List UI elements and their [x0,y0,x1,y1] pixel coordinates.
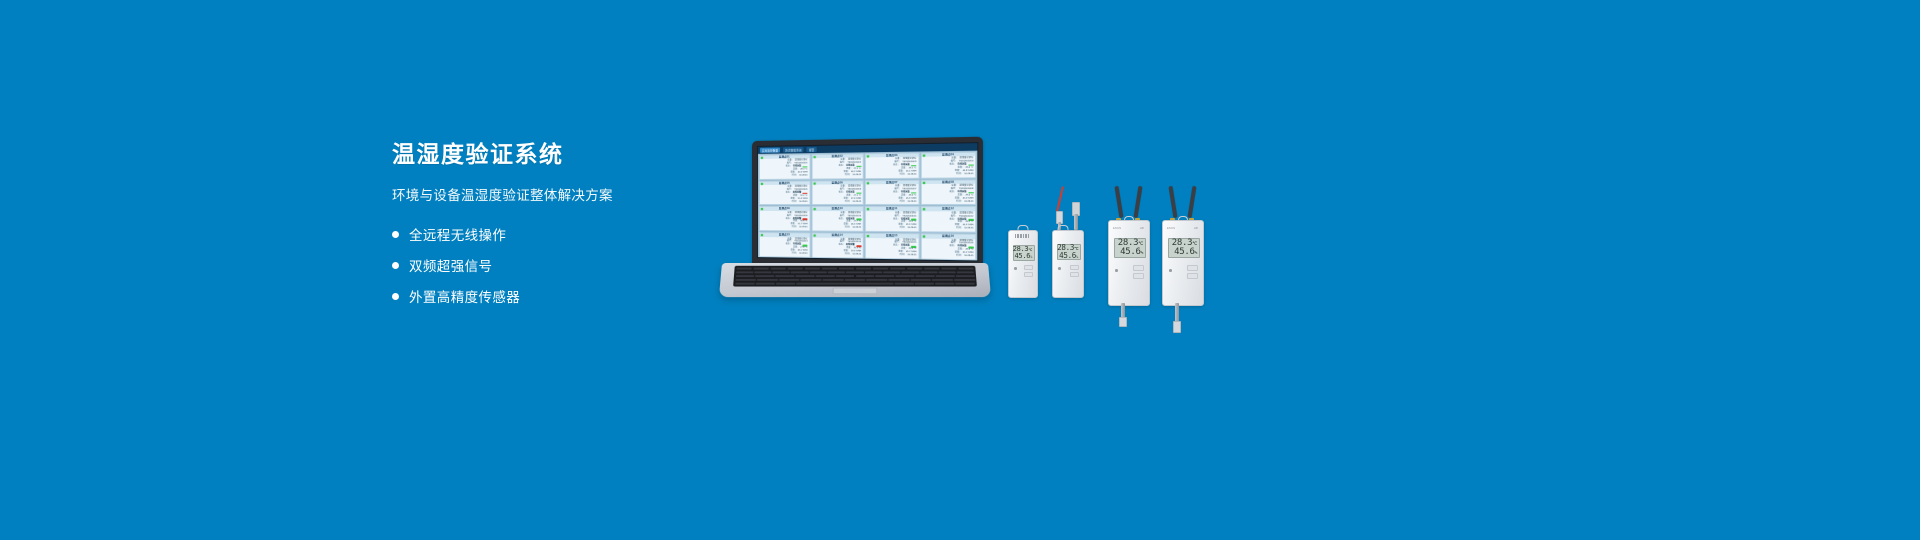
keyboard-key[interactable] [795,275,814,278]
keyboard-key[interactable] [956,282,976,285]
button-pad [1024,265,1033,277]
monitoring-card[interactable]: 监测点14设备：温湿度记录仪编号：TS202001014状态：超限报警温度：31… [811,233,864,259]
card-title: 监测点10 [812,208,863,211]
keyboard-key[interactable] [935,282,954,285]
row-key: 时间： [845,253,852,256]
status-led-icon [813,235,815,237]
device-button-up[interactable] [1187,265,1198,271]
monitoring-card[interactable]: 监测点15设备：温湿度记录仪编号：TS202001015状态：在线采集温度：28… [865,233,919,259]
keyboard-key[interactable] [846,271,863,274]
keyboard-key[interactable] [856,275,875,278]
humidity-unit: % [1141,251,1143,256]
keyboard-key[interactable] [915,282,934,285]
button-pad [1187,265,1198,279]
row-key: 时间： [845,227,852,230]
card-row: 时间：10:28:45 [761,174,807,177]
sensor-filter-cap [1119,317,1127,327]
status-led-icon [1058,267,1061,270]
card-row: 时间：10:28:45 [867,254,916,258]
feature-label: 全远程无线操作 [409,224,506,244]
keyboard-row [736,267,974,270]
keyboard-key[interactable] [735,279,756,282]
card-row: 时间：10:28:45 [923,173,973,176]
device-brand-label: ENON [1167,227,1175,230]
keyboard-key[interactable] [957,271,974,274]
device-button-down[interactable] [1133,273,1144,279]
pager-page-2[interactable]: 2 [865,261,874,262]
monitoring-card[interactable]: 监测点11设备：温湿度记录仪编号：TS202001011状态：在线采集温度：28… [865,207,919,233]
keyboard-key[interactable] [821,267,837,270]
monitoring-card[interactable]: 监测点16设备：温湿度记录仪编号：TS202001016状态：在线采集温度：28… [920,234,976,261]
card-title: 监测点12 [921,208,975,212]
keyboard-key[interactable] [956,275,975,278]
humidity-value: 45.6 [1015,252,1031,260]
device-button-down[interactable] [1187,273,1198,279]
sensor-probe-rod [1175,303,1179,323]
lcd-display: 28.3℃ 45.6% [1013,245,1035,261]
keyboard-key[interactable] [770,267,786,270]
card-title: 监测点14 [812,234,863,238]
laptop-screen: 实时监控数据历史数据查询报警 监测点01设备：温湿度记录仪编号：TS202001… [757,142,978,261]
row-value: 10:28:45 [853,227,862,230]
tab-2[interactable]: 报警 [807,147,817,152]
monitoring-card[interactable]: 监测点09设备：温湿度记录仪编号：TS202001009状态：超限报警温度：30… [759,206,810,231]
lcd-display: 28.3℃ 45.6% [1168,238,1200,258]
keyboard-row [735,279,975,282]
status-led-icon [922,236,924,238]
row-value: 10:28:45 [853,253,862,256]
keyboard-key[interactable] [754,271,771,274]
keyboard-key[interactable] [941,267,957,270]
keyboard-key[interactable] [787,267,803,270]
status-led-icon [867,235,869,237]
feature-label: 双频超强信号 [409,255,492,275]
keyboard-key[interactable] [883,271,900,274]
row-value: 10:28:45 [964,255,973,258]
card-title: 监测点08 [921,180,975,184]
hero-banner: 温湿度验证系统 环境与设备温湿度验证整体解决方案 全远程无线操作 双频超强信号 … [0,0,1920,540]
card-row: 时间：10:28:45 [923,200,973,203]
row-key: 时间： [845,200,852,203]
data-logger-c: ENON HB 28.3℃ 45.6% [1108,220,1150,306]
keyboard-key[interactable] [735,275,754,278]
row-value: 10:28:45 [853,200,862,203]
data-logger-b: 28.3℃ 45.6% [1052,230,1084,298]
card-title: 监测点15 [866,234,918,238]
device-button-down[interactable] [1024,272,1033,277]
tab-1[interactable]: 历史数据查询 [783,147,804,152]
keyboard-key[interactable] [907,267,923,270]
row-key: 时间： [792,201,798,204]
bullet-dot-icon [392,231,399,238]
keyboard-key[interactable] [775,275,794,278]
keyboard-key[interactable] [809,271,826,274]
row-key: 时间： [792,253,798,256]
device-button-down[interactable] [1070,272,1079,277]
keyboard-key[interactable] [873,267,889,270]
keyboard-key[interactable] [828,271,845,274]
card-title: 监测点16 [921,235,975,239]
list-item: 双频超强信号 [392,255,722,275]
keyboard-key[interactable] [876,275,895,278]
monitoring-card[interactable]: 监测点02设备：温湿度记录仪编号：TS202001002状态：在线采集温度：27… [811,153,864,179]
button-pad [1133,265,1144,279]
row-value: 10:28:45 [799,253,807,256]
card-title: 监测点13 [760,233,809,237]
antenna-right-icon [1188,186,1197,218]
keyboard-key[interactable] [888,279,909,282]
data-logger-d: ENON HB 28.3℃ 45.6% [1162,220,1204,306]
card-title: 监测点11 [866,208,918,211]
monitoring-card[interactable]: 监测点05设备：温湿度记录仪编号：TS202001005状态：超限报警温度：31… [759,180,810,205]
card-row: 时间：10:28:45 [814,227,861,230]
row-key: 时间： [900,200,907,203]
row-value: 10:28:45 [964,228,973,231]
keyboard-key[interactable] [839,267,855,270]
keyboard-key[interactable] [836,275,855,278]
keyboard-key[interactable] [938,271,955,274]
banner-subtitle: 环境与设备温湿度验证整体解决方案 [392,184,722,204]
laptop-product-image: 实时监控数据历史数据查询报警 监测点01设备：温湿度记录仪编号：TS202001… [722,141,988,299]
lcd-display: 28.3℃ 45.6% [1114,238,1146,258]
status-led-icon [813,182,815,184]
card-row: 时间：10:28:45 [867,227,916,230]
monitoring-card[interactable]: 监测点04设备：温湿度记录仪编号：TS202001004状态：在线采集温度：28… [920,152,976,179]
card-row: 时间：10:28:45 [761,226,807,229]
humidity-value: 45.6 [1120,247,1140,257]
row-value: 10:28:45 [908,254,917,257]
keyboard-key[interactable] [894,282,913,285]
monitoring-card[interactable]: 监测点12设备：温湿度记录仪编号：TS202001012状态：在线采集温度：28… [920,207,976,233]
row-key: 时间： [956,200,963,203]
keyboard-key[interactable] [796,282,893,285]
keyboard-key[interactable] [755,275,774,278]
row-value: 10:28:45 [908,173,917,176]
vent-grille-icon [1015,234,1029,238]
humidity-unit: % [1076,255,1078,259]
card-row: 时间：10:28:45 [761,200,807,203]
status-led-icon [922,182,924,184]
row-key: 时间： [956,228,963,231]
laptop-brand-label: HUAWEI [845,288,864,292]
bullet-dot-icon [392,262,399,269]
monitoring-card[interactable]: 监测点13设备：温湿度记录仪编号：TS202001013状态：在线采集温度：27… [759,232,810,258]
pager-prev-button[interactable]: 上一页 [837,260,852,262]
banner-copy: 温湿度验证系统 环境与设备温湿度验证整体解决方案 全远程无线操作 双频超强信号 … [392,142,722,317]
data-logger-group: 28.3℃ 45.6% [1000,180,1260,310]
keyboard-key[interactable] [736,267,752,270]
row-value: 10:28:45 [908,200,917,203]
data-logger-a: 28.3℃ 45.6% [1008,230,1038,298]
keyboard-key[interactable] [902,271,919,274]
keyboard-key[interactable] [753,267,769,270]
antenna-left-icon [1115,186,1124,218]
keyboard-key[interactable] [958,267,974,270]
keyboard-key[interactable] [801,279,822,282]
keyboard [733,266,977,287]
keyboard-key[interactable] [735,282,755,285]
status-led-icon [761,183,763,185]
keyboard-key[interactable] [773,271,790,274]
monitoring-card[interactable]: 监测点08设备：温湿度记录仪编号：TS202001008状态：在线采集温度：28… [920,179,976,205]
keyboard-row [735,282,976,285]
card-row: 时间：10:28:45 [761,252,807,256]
probe-wire [1056,186,1063,212]
monitoring-card[interactable]: 监测点01设备：温湿度记录仪编号：TS202001001状态：在线采集温度：28… [759,154,810,180]
row-value: 10:28:45 [853,174,862,177]
keyboard-key[interactable] [924,267,940,270]
keyboard-key[interactable] [865,271,882,274]
card-row: 时间：10:28:45 [867,173,916,176]
card-row: 时间：10:28:45 [814,253,861,257]
keyboard-key[interactable] [936,275,955,278]
monitoring-card[interactable]: 监测点10设备：温湿度记录仪编号：TS202001010状态：在线采集温度：27… [811,206,864,232]
row-key: 时间： [845,174,852,177]
monitoring-card[interactable]: 监测点06设备：温湿度记录仪编号：TS202001006状态：在线采集温度：27… [811,180,864,206]
humidity-value: 45.6 [1059,251,1076,260]
list-item: 外置高精度传感器 [392,286,722,306]
row-value: 10:28:45 [908,227,917,230]
row-key: 时间： [792,227,798,230]
row-key: 时间： [900,227,907,230]
keyboard-key[interactable] [896,275,915,278]
monitoring-card-grid: 监测点01设备：温湿度记录仪编号：TS202001001状态：在线采集温度：28… [758,151,977,262]
bullet-dot-icon [392,293,399,300]
humidity-unit: % [1195,251,1197,256]
status-led-icon [1014,267,1017,270]
row-key: 时间： [792,174,798,177]
keyboard-key[interactable] [757,279,778,282]
lcd-display: 28.3℃ 45.6% [1057,244,1081,260]
keyboard-key[interactable] [856,267,872,270]
row-value: 10:28:45 [964,173,973,176]
humidity-unit: % [1030,255,1032,259]
status-led-icon [1115,269,1118,272]
keyboard-key[interactable] [736,271,753,274]
status-led-icon [867,155,869,157]
keyboard-key[interactable] [932,279,953,282]
pager-next-button[interactable]: 下一页 [876,261,892,262]
keyboard-key[interactable] [890,267,906,270]
laptop-base: HUAWEI [719,263,991,297]
device-brand-label: ENON [1113,227,1121,230]
device-button-up[interactable] [1133,265,1144,271]
laptop-lid: 实时监控数据历史数据查询报警 监测点01设备：温湿度记录仪编号：TS202001… [752,137,983,274]
keyboard-row [736,271,975,274]
keyboard-key[interactable] [910,279,931,282]
device-model-label: HB [1140,227,1144,230]
card-title: 监测点09 [760,207,809,210]
export-button[interactable]: 数据导出 [760,260,775,262]
card-row: 时间：10:28:45 [923,254,973,258]
antenna-left-icon [1169,186,1178,218]
card-row: 时间：10:28:45 [814,174,861,177]
button-pad [1070,265,1079,277]
status-led-icon [1169,269,1172,272]
tab-0[interactable]: 实时监控数据 [760,148,780,153]
card-row: 时间：10:28:45 [814,200,861,203]
status-led-icon [922,155,924,157]
list-item: 全远程无线操作 [392,224,722,244]
row-key: 时间： [956,173,963,176]
row-value: 10:28:45 [799,174,807,177]
keyboard-key[interactable] [920,271,937,274]
keyboard-key[interactable] [755,282,774,285]
device-model-label: HB [1194,227,1198,230]
card-title: 监测点05 [760,181,809,185]
status-led-icon [813,156,815,158]
keyboard-key[interactable] [804,267,820,270]
keyboard-key[interactable] [779,279,800,282]
keyboard-row [735,275,974,278]
keyboard-key[interactable] [916,275,935,278]
sensor-filter-cap [1173,321,1181,333]
status-led-icon [761,157,763,159]
antenna-right-icon [1134,186,1143,218]
row-key: 时间： [900,173,907,176]
monitoring-card[interactable]: 监测点07设备：温湿度记录仪编号：TS202001007状态：在线采集温度：28… [865,180,919,206]
keyboard-key[interactable] [776,282,795,285]
card-row: 时间：10:28:45 [867,200,916,203]
status-led-icon [867,182,869,184]
pager-page-1[interactable]: 1 [854,261,863,262]
feature-list: 全远程无线操作 双频超强信号 外置高精度传感器 [392,224,722,306]
monitoring-card[interactable]: 监测点03设备：温湿度记录仪编号：TS202001003状态：在线采集温度：28… [865,153,919,179]
row-value: 10:28:45 [964,200,973,203]
card-title: 监测点06 [812,181,863,185]
feature-label: 外置高精度传感器 [409,286,520,306]
keyboard-key[interactable] [867,279,888,282]
humidity-value: 45.6 [1174,247,1194,257]
device-button-up[interactable] [1070,265,1079,270]
row-key: 时间： [956,255,963,258]
keyboard-key[interactable] [791,271,808,274]
keyboard-key[interactable] [954,279,975,282]
keyboard-key[interactable] [823,279,844,282]
status-led-icon [761,234,763,236]
card-row: 时间：10:28:45 [923,227,973,230]
sensor-probe-rod [1074,214,1078,230]
card-title: 监测点07 [866,181,918,185]
keyboard-key[interactable] [845,279,866,282]
row-value: 10:28:45 [799,227,807,230]
row-value: 10:28:45 [799,200,807,203]
page-title: 温湿度验证系统 [392,142,722,167]
device-button-up[interactable] [1024,265,1033,270]
row-key: 时间： [900,254,907,257]
keyboard-key[interactable] [816,275,835,278]
